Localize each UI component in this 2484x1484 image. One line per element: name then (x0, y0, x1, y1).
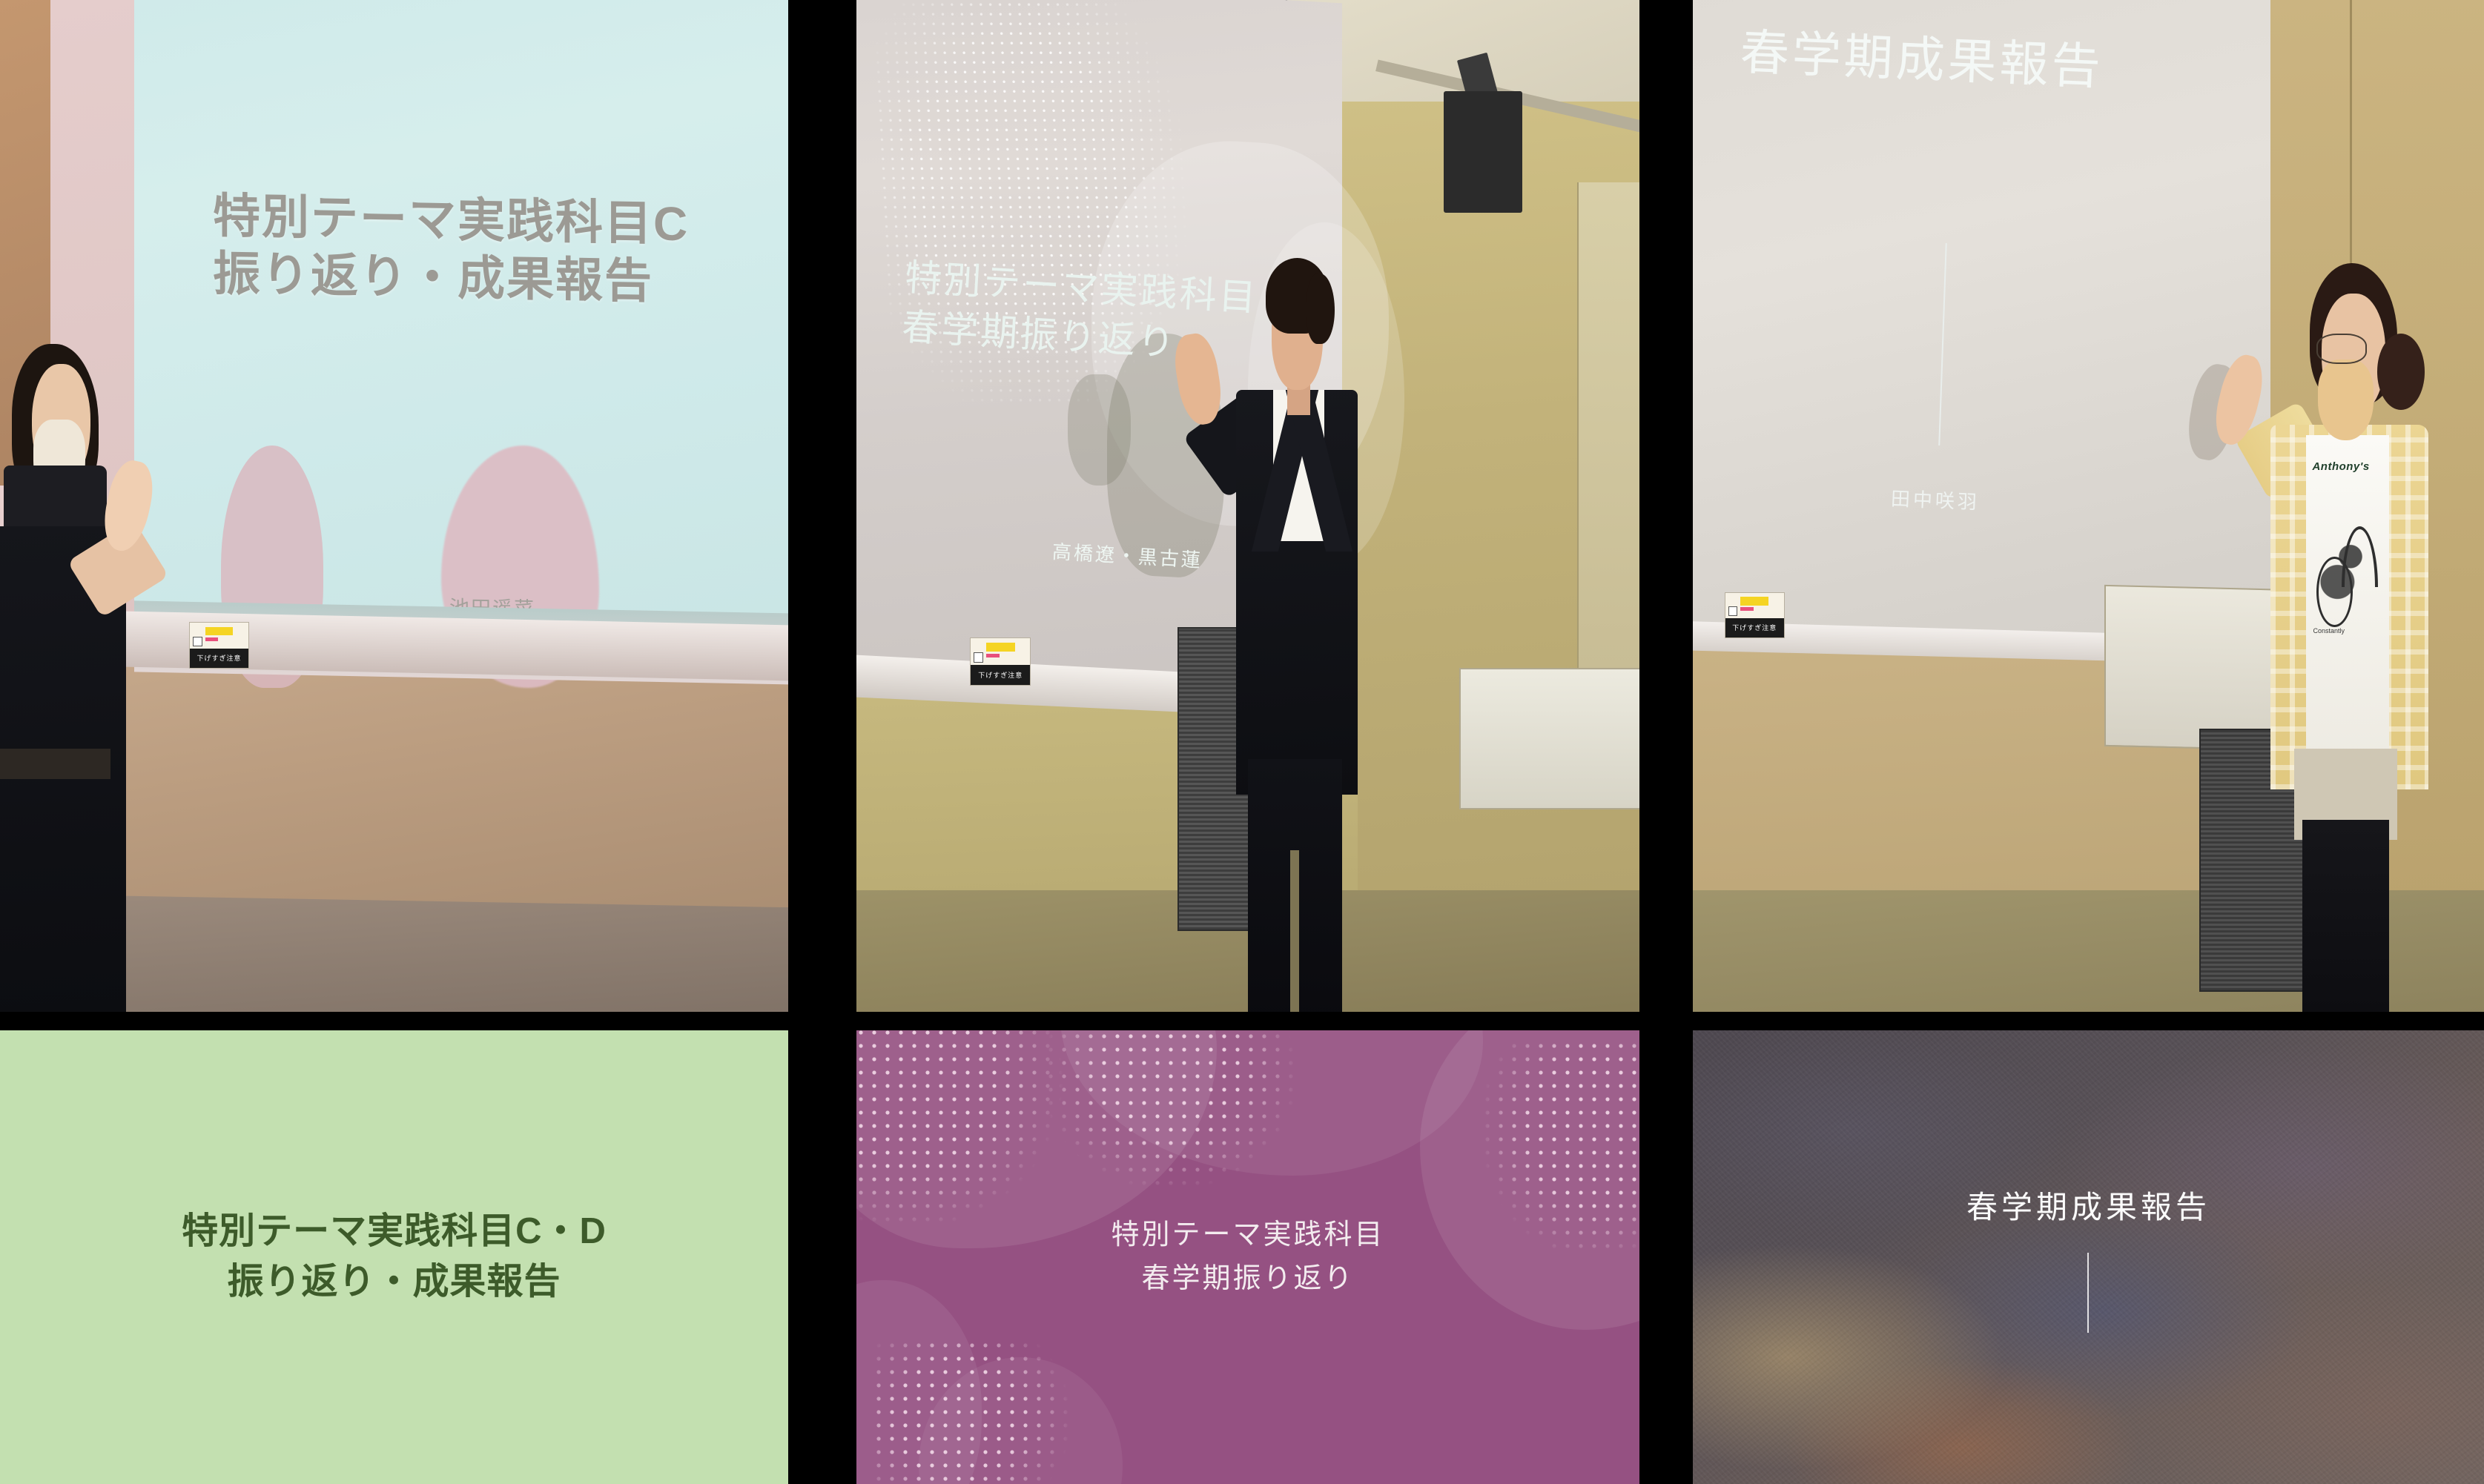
title-slide-dark: 春学期成果報告 (1693, 1030, 2484, 1484)
slide-panel-purple[interactable]: 特別テーマ実践科目 春学期振り返り (856, 1030, 1639, 1484)
decor-dots-4 (872, 1339, 1076, 1484)
wall-wood-lower (47, 651, 788, 928)
title-slide-green: 特別テーマ実践科目C・D 振り返り・成果報告 (0, 1030, 788, 1484)
presentation-photo-3: 春学期成果報告 田中咲羽 Anthony's Constantly (1693, 0, 2484, 1012)
photo-slide-grid: 特別テーマ実践科目C 振り返り・成果報告 池田遥菜 (0, 0, 2484, 1484)
presenter1-belt (0, 749, 110, 779)
warning-badge (205, 627, 234, 636)
whiteboard-3 (2104, 585, 2294, 752)
warning-sign-3: 下げすぎ注意 (1725, 592, 1785, 639)
decor-dots-2 (1044, 1030, 1295, 1193)
warning-sign-top-2 (971, 638, 1030, 665)
warning-triangle-icon-3 (1728, 606, 1738, 616)
photo-panel-1[interactable]: 特別テーマ実践科目C 振り返り・成果報告 池田遥菜 (0, 0, 788, 1012)
slide-dark-content: 春学期成果報告 (1966, 1182, 2210, 1333)
whiteboard-2 (1459, 668, 1639, 809)
tshirt-brand-text: Anthony's (2312, 460, 2383, 473)
slide-dark-divider (2087, 1253, 2089, 1333)
presenter3-legs (2302, 820, 2389, 1012)
tshirt-footer-text: Constantly (2313, 627, 2376, 635)
slide-panel-dark[interactable]: 春学期成果報告 (1693, 1030, 2484, 1484)
presentation-photo-1: 特別テーマ実践科目C 振り返り・成果報告 池田遥菜 (0, 0, 788, 1012)
warning-sign-top (190, 623, 248, 648)
presenter3-mask (2318, 360, 2374, 440)
projected-title-1: 特別テーマ実践科目C 振り返り・成果報告 (213, 187, 788, 313)
warning-badge-2 (986, 643, 1015, 652)
projected-author-3: 田中咲羽 (1890, 484, 1980, 515)
slide-green-title: 特別テーマ実践科目C・D 振り返り・成果報告 (182, 1207, 607, 1307)
photo-panel-3[interactable]: 春学期成果報告 田中咲羽 Anthony's Constantly (1693, 0, 2484, 1012)
presenter2-leg-gap (1290, 850, 1299, 1012)
decor-dots-3 (1467, 1039, 1639, 1248)
warning-triangle-icon-2 (974, 652, 983, 663)
warning-sign-1: 下げすぎ注意 (189, 622, 249, 669)
warning-triangle-icon (193, 637, 202, 646)
slide-dark-title: 春学期成果報告 (1966, 1182, 2210, 1228)
warning-sign-label-2: 下げすぎ注意 (971, 665, 1030, 686)
warning-highlight-2 (986, 654, 1000, 657)
warning-badge-3 (1740, 597, 1768, 606)
warning-sign-label-3: 下げすぎ注意 (1725, 618, 1784, 638)
warning-sign-top-3 (1725, 593, 1784, 618)
presenter-hand-shadow-2 (1068, 374, 1130, 486)
warning-sign-label: 下げすぎ注意 (190, 649, 248, 669)
slide-purple-title: 特別テーマ実践科目 春学期振り返り (1111, 1213, 1384, 1301)
warning-sign-2: 下げすぎ注意 (970, 637, 1031, 686)
warning-highlight-3 (1740, 607, 1753, 611)
door-2 (1577, 182, 1639, 668)
projector-2 (1444, 91, 1522, 213)
presentation-photo-2: 特別テーマ実践科目 春学期振り返り 高橋遼・黒古蓮 (856, 0, 1639, 1012)
photo-panel-2[interactable]: 特別テーマ実践科目 春学期振り返り 高橋遼・黒古蓮 (856, 0, 1639, 1012)
slide-panel-green[interactable]: 特別テーマ実践科目C・D 振り返り・成果報告 (0, 1030, 788, 1484)
warning-highlight (205, 637, 218, 641)
presenter3-hair-bun (2377, 334, 2425, 409)
title-slide-purple: 特別テーマ実践科目 春学期振り返り (856, 1030, 1639, 1484)
presenter3-glasses-icon (2316, 334, 2367, 364)
